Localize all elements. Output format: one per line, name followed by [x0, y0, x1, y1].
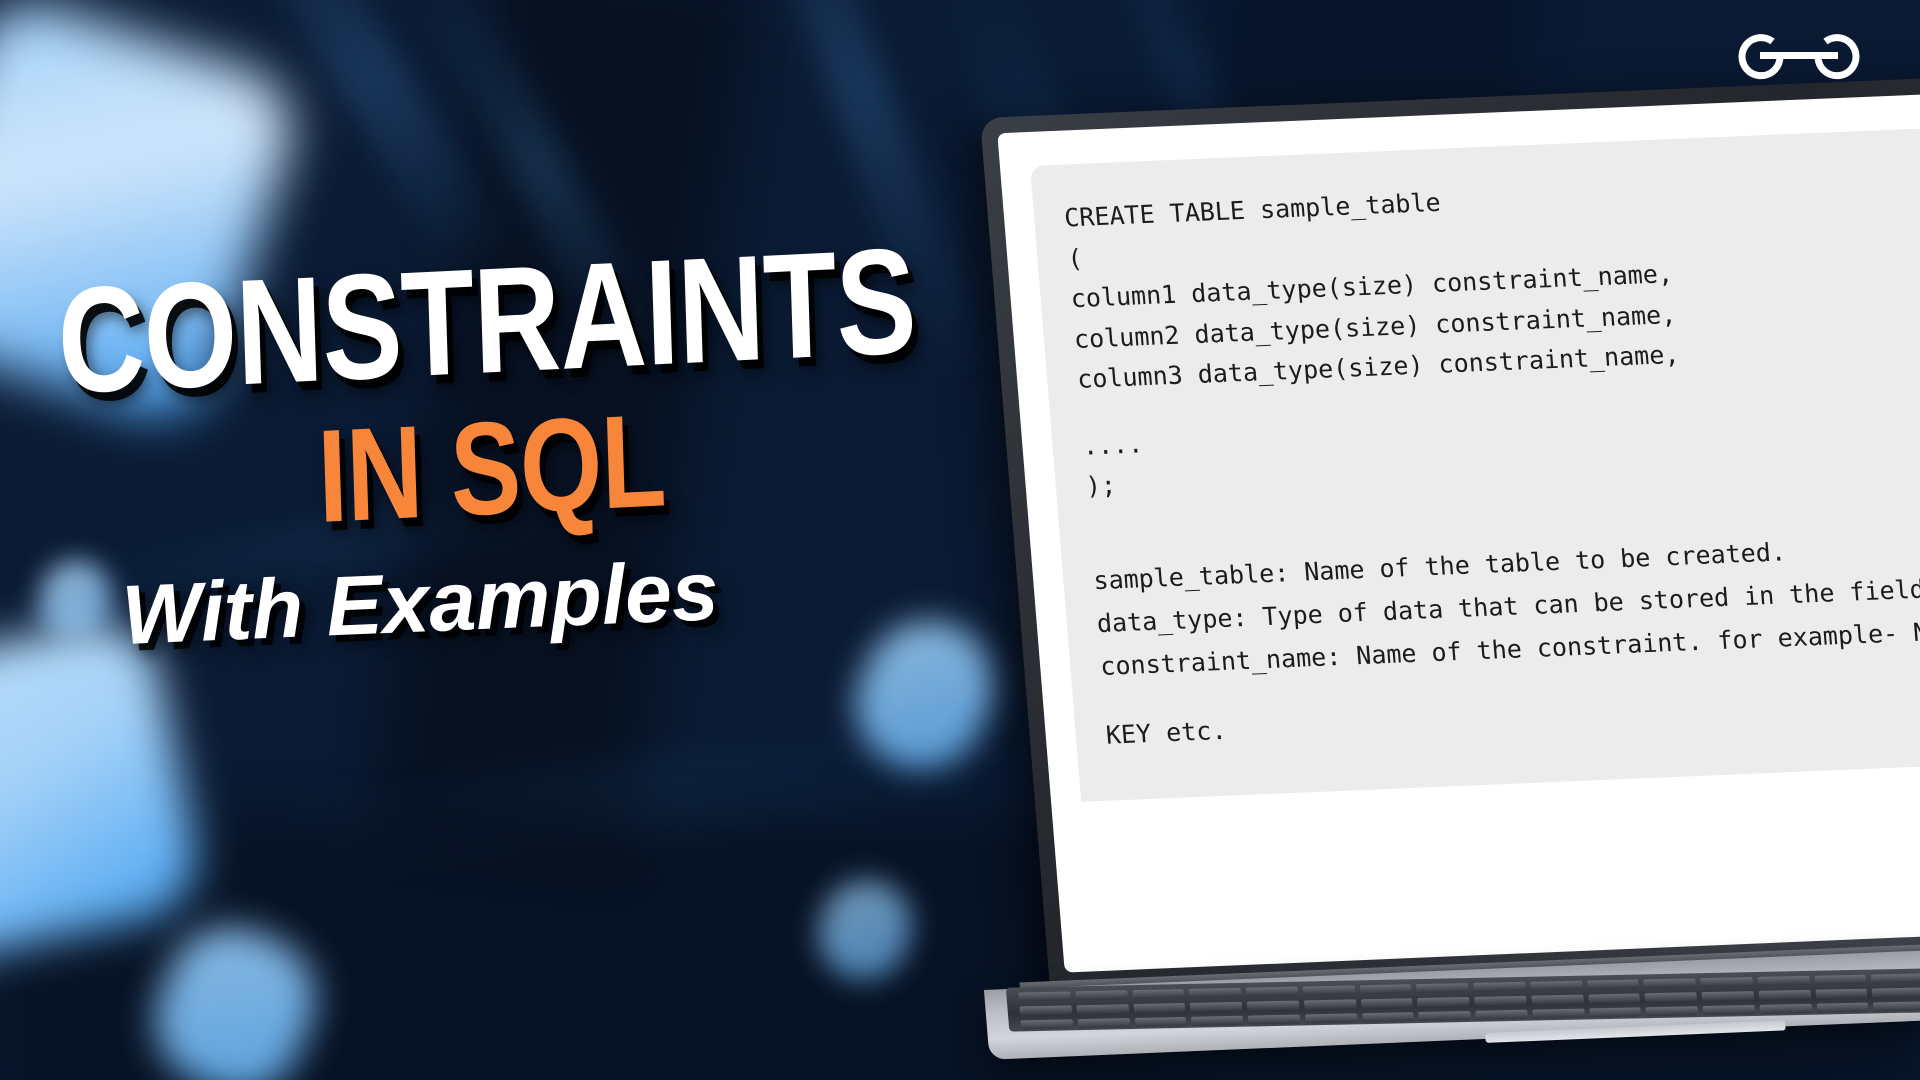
keyboard-key[interactable]	[1190, 1002, 1243, 1012]
page-subtitle: With Examples	[120, 537, 979, 657]
keyboard-key[interactable]	[1587, 979, 1640, 989]
keyboard-key[interactable]	[1871, 973, 1920, 983]
page-title-line2: IN SQL	[316, 396, 847, 533]
keyboard-key[interactable]	[1360, 998, 1413, 1008]
page-title-line1: CONSTRAINTS	[56, 245, 795, 403]
keyboard-key[interactable]	[1815, 989, 1868, 999]
sql-description-block: sample_table: Name of the table to be cr…	[1092, 516, 1920, 757]
keyboard-key[interactable]	[1362, 1012, 1415, 1022]
keyboard-key[interactable]	[1191, 1016, 1244, 1026]
keyboard-key[interactable]	[1248, 1015, 1301, 1025]
keyboard-key[interactable]	[1758, 990, 1811, 1000]
keyboard-key[interactable]	[1646, 1006, 1699, 1016]
keyboard-key[interactable]	[1303, 985, 1356, 995]
keyboard-key[interactable]	[1133, 1003, 1186, 1013]
keyboard-key[interactable]	[1531, 995, 1584, 1005]
keyboard-key[interactable]	[1532, 1009, 1585, 1019]
keyboard-key[interactable]	[1134, 1017, 1187, 1027]
keyboard-key[interactable]	[1475, 1010, 1528, 1020]
keyboard-key[interactable]	[1418, 1011, 1471, 1021]
keyboard-key[interactable]	[1305, 1013, 1358, 1023]
keyboard-key[interactable]	[1473, 982, 1526, 992]
keyboard-key[interactable]	[1757, 976, 1810, 986]
keyboard-key[interactable]	[1076, 1004, 1129, 1014]
laptop-mockup: CREATE TABLE sample_table(column1 data_t…	[980, 69, 1920, 1016]
keyboard-key[interactable]	[1873, 1001, 1920, 1011]
keyboard-key[interactable]	[1417, 997, 1470, 1007]
laptop-screen: CREATE TABLE sample_table(column1 data_t…	[997, 85, 1920, 972]
keyboard-key[interactable]	[1644, 978, 1697, 988]
keyboard-key[interactable]	[1816, 1003, 1869, 1013]
keyboard-key[interactable]	[1588, 993, 1641, 1003]
geeksforgeeks-logo-icon	[1736, 22, 1862, 84]
keyboard-key[interactable]	[1018, 991, 1071, 1001]
keyboard-key[interactable]	[1247, 1001, 1300, 1011]
keyboard-key[interactable]	[1416, 983, 1469, 993]
keyboard-key[interactable]	[1474, 996, 1527, 1006]
keyboard-key[interactable]	[1760, 1004, 1813, 1014]
sql-code-block: CREATE TABLE sample_table(column1 data_t…	[1063, 155, 1920, 507]
keyboard-key[interactable]	[1589, 1007, 1642, 1017]
keyboard-key[interactable]	[1645, 992, 1698, 1002]
laptop-lid: CREATE TABLE sample_table(column1 data_t…	[980, 69, 1920, 996]
keyboard-key[interactable]	[1075, 990, 1128, 1000]
keyboard-key[interactable]	[1700, 977, 1753, 987]
keyboard-key[interactable]	[1021, 1019, 1074, 1029]
keyboard-key[interactable]	[1702, 991, 1755, 1001]
keyboard-key[interactable]	[1304, 999, 1357, 1009]
code-card: CREATE TABLE sample_table(column1 data_t…	[1030, 120, 1920, 801]
keyboard-key[interactable]	[1872, 987, 1920, 997]
keyboard-key[interactable]	[1246, 987, 1299, 997]
keyboard-key[interactable]	[1703, 1005, 1756, 1015]
keyboard-key[interactable]	[1814, 975, 1867, 985]
title-block: CONSTRAINTS IN SQL With Examples	[58, 280, 978, 657]
keyboard-key[interactable]	[1077, 1018, 1130, 1028]
keyboard-key[interactable]	[1132, 989, 1185, 999]
keyboard-key[interactable]	[1189, 988, 1242, 998]
keyboard-key[interactable]	[1530, 981, 1583, 991]
keyboard-key[interactable]	[1019, 1005, 1072, 1015]
keyboard-key[interactable]	[1359, 984, 1412, 994]
